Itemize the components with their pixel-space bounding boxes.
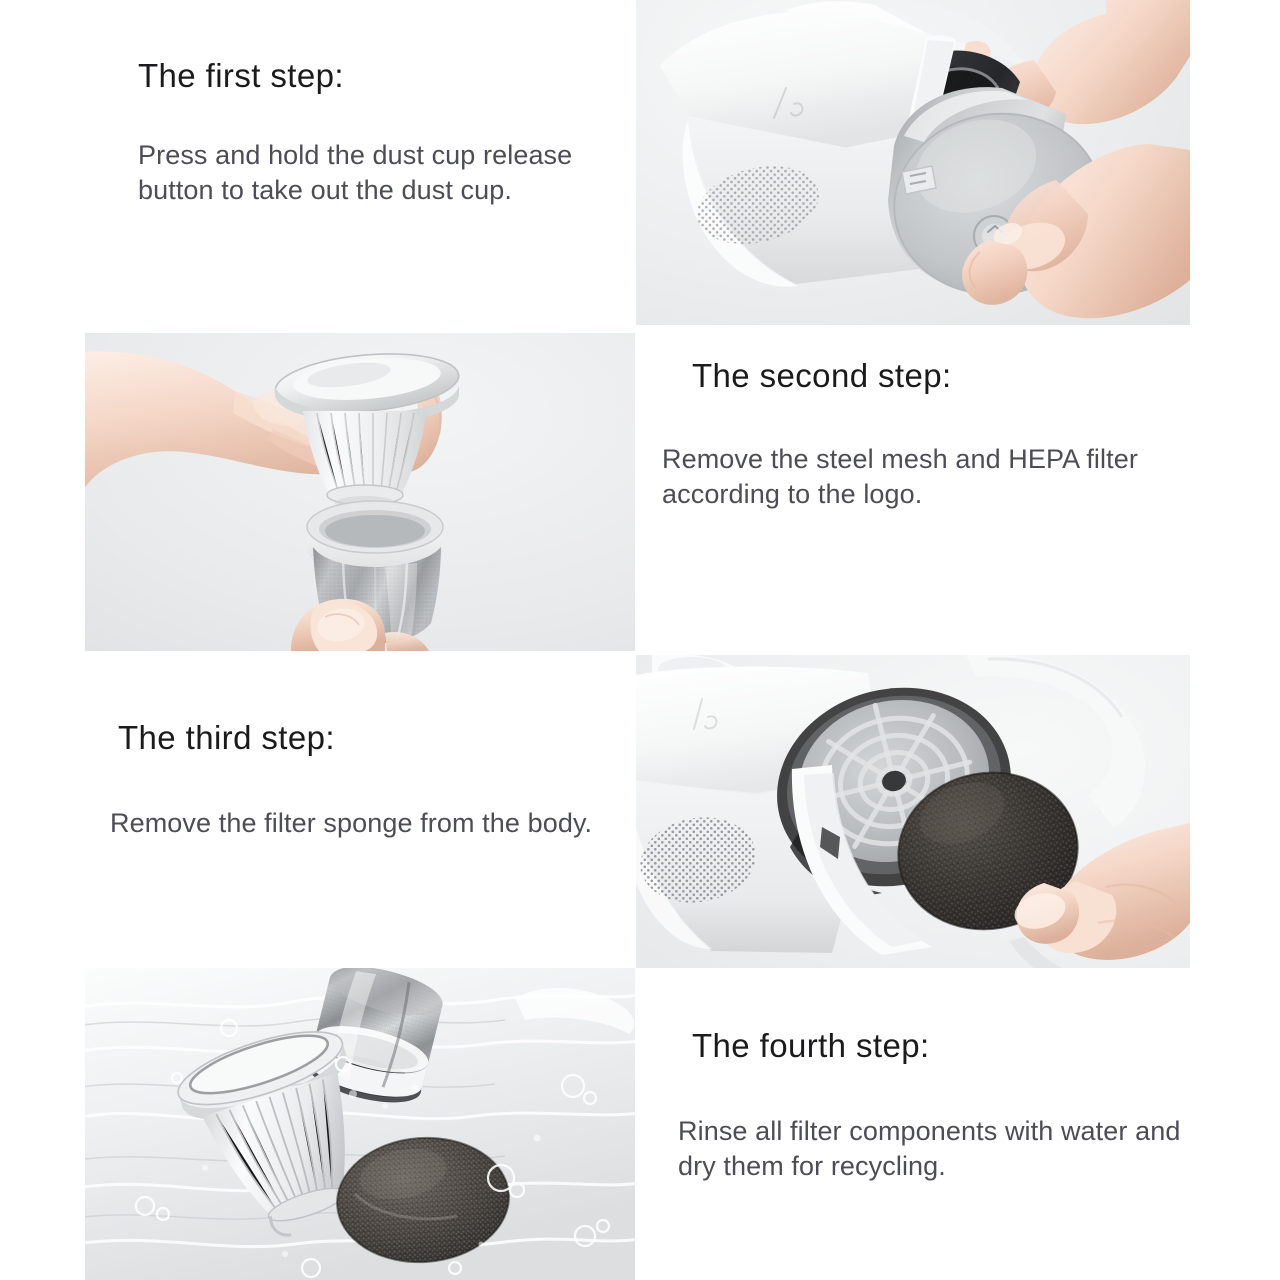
steel-mesh-hepa-illustration	[85, 333, 635, 651]
step-4-image	[85, 968, 635, 1280]
step-3-body: Remove the filter sponge from the body.	[110, 806, 605, 841]
step-2-title: The second step:	[692, 358, 1197, 394]
dust-cup-removal-illustration	[636, 0, 1190, 325]
rinse-components-illustration	[85, 968, 635, 1280]
step-3-image	[636, 655, 1190, 968]
step-1-text-block: The first step: Press and hold the dust …	[138, 58, 618, 208]
step-4-title: The fourth step:	[692, 1028, 1197, 1064]
step-2-body: Remove the steel mesh and HEPA filter ac…	[662, 442, 1197, 512]
step-3-title: The third step:	[118, 720, 618, 756]
step-1-body: Press and hold the dust cup release butt…	[138, 138, 593, 208]
step-2-text-block: The second step: Remove the steel mesh a…	[692, 358, 1197, 512]
instruction-infographic: The first step: Press and hold the dust …	[0, 0, 1280, 1280]
step-1-title: The first step:	[138, 58, 618, 94]
step-3-text-block: The third step: Remove the filter sponge…	[118, 720, 618, 841]
step-4-body: Rinse all filter components with water a…	[678, 1114, 1198, 1184]
step-1-image	[636, 0, 1190, 325]
step-4-text-block: The fourth step: Rinse all filter compon…	[692, 1028, 1197, 1184]
filter-sponge-removal-illustration	[636, 655, 1190, 968]
step-2-image	[85, 333, 635, 651]
